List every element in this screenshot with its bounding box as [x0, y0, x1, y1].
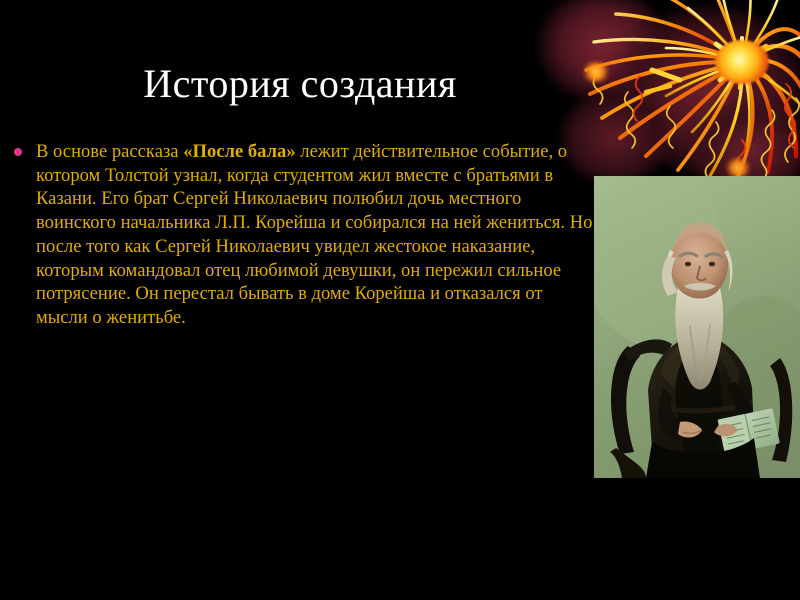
firework-spark-lower	[725, 158, 751, 178]
firework-core	[715, 40, 769, 84]
quoted-work-title: «После бала»	[183, 141, 295, 162]
slide-body: В основе рассказа «После бала» лежит дей…	[14, 140, 594, 330]
bullet-item: В основе рассказа «После бала» лежит дей…	[14, 140, 594, 330]
presentation-slide: История создания В основе рассказа «Посл…	[0, 0, 800, 600]
paragraph-part-1: В основе рассказа	[36, 141, 183, 162]
tolstoy-portrait-image	[594, 176, 800, 478]
bullet-paragraph: В основе рассказа «После бала» лежит дей…	[36, 140, 594, 330]
firework-halo-b	[615, 5, 800, 175]
paragraph-part-2: лежит действительное событие, о котором …	[36, 141, 592, 328]
portrait-artwork	[594, 176, 800, 478]
bullet-marker	[14, 140, 36, 156]
slide-title: История создания	[0, 62, 600, 106]
bullet-dot-icon	[14, 148, 22, 156]
